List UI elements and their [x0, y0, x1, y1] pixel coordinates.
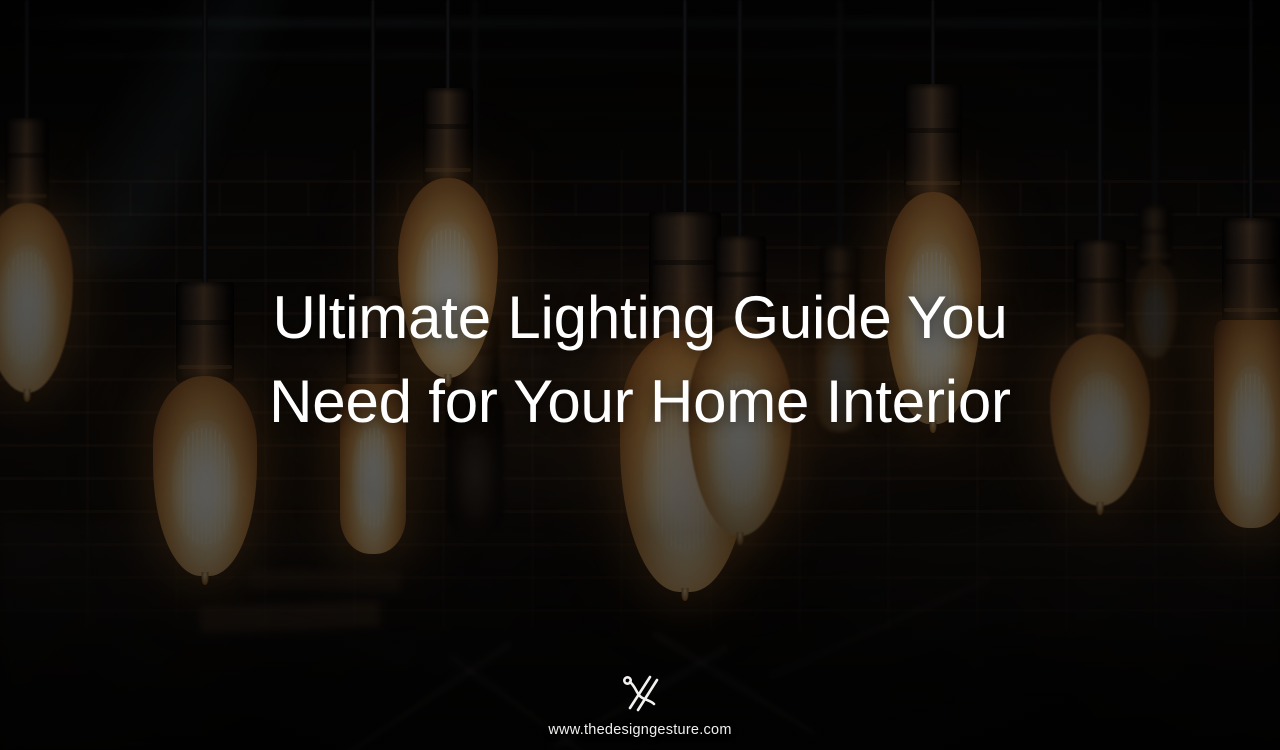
page-title-line-2: Need for Your Home Interior [0, 360, 1280, 444]
design-gesture-logo-icon [617, 671, 663, 715]
page-title-line-1: Ultimate Lighting Guide You [0, 276, 1280, 360]
brand-block: www.thedesigngesture.com [0, 671, 1280, 738]
site-url: www.thedesigngesture.com [548, 722, 731, 738]
hero-banner: Ultimate Lighting Guide You Need for You… [0, 0, 1280, 750]
hero-content: Ultimate Lighting Guide You Need for You… [0, 0, 1280, 750]
page-title: Ultimate Lighting Guide You Need for You… [0, 276, 1280, 444]
